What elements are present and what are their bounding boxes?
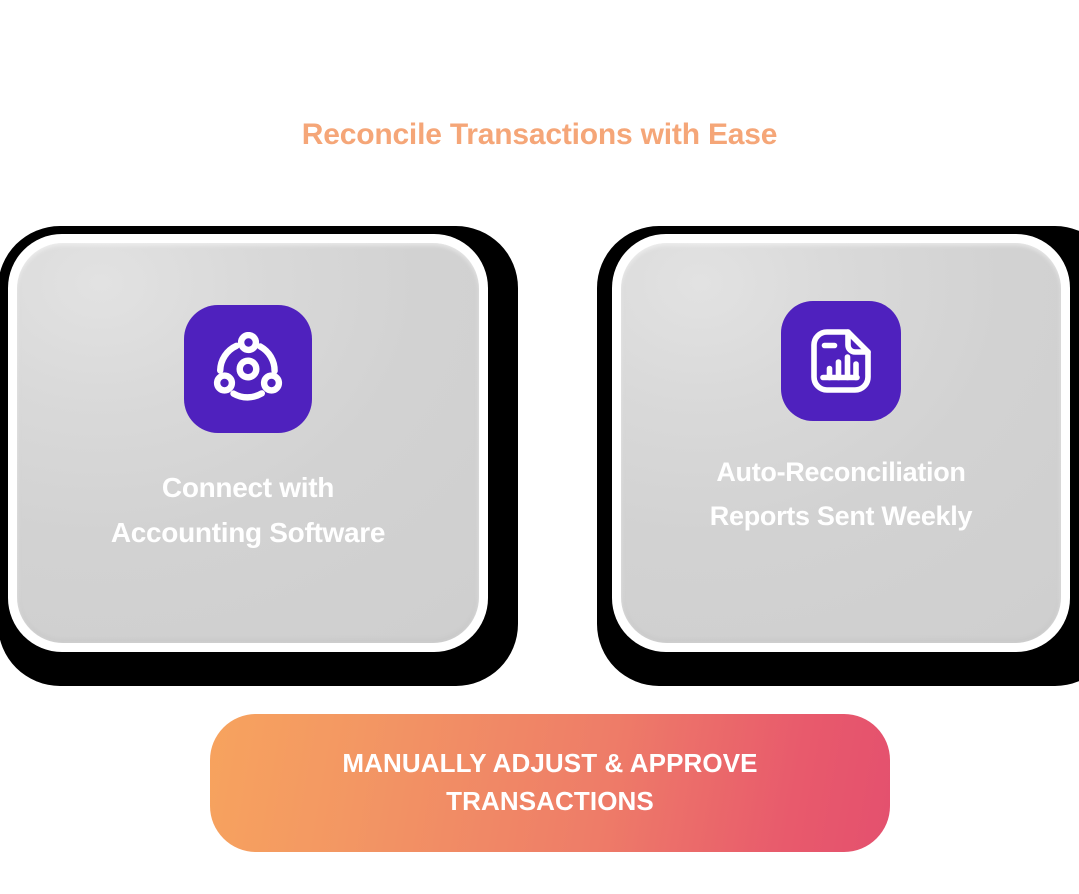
icon-tile	[781, 301, 901, 421]
feature-card-connect-accounting[interactable]: Connect with Accounting Software	[0, 226, 518, 686]
section-title: Reconcile Transactions with Ease	[0, 118, 1079, 152]
feature-section: Reconcile Transactions with Ease	[0, 0, 1079, 894]
card-outline: Connect with Accounting Software	[8, 234, 488, 652]
card-surface: Connect with Accounting Software	[17, 243, 479, 643]
card-surface: Auto-Reconciliation Reports Sent Weekly	[621, 243, 1061, 643]
report-chart-document-icon	[807, 327, 875, 395]
manually-adjust-approve-transactions-button[interactable]: MANUALLY ADJUST & APPROVE TRANSACTIONS	[210, 714, 890, 852]
cta-button-label: MANUALLY ADJUST & APPROVE TRANSACTIONS	[262, 745, 838, 820]
card-outline: Auto-Reconciliation Reports Sent Weekly	[612, 234, 1070, 652]
card-caption: Connect with Accounting Software	[35, 465, 460, 556]
network-share-icon	[211, 332, 285, 406]
feature-card-auto-reconciliation[interactable]: Auto-Reconciliation Reports Sent Weekly	[597, 226, 1079, 686]
card-caption: Auto-Reconciliation Reports Sent Weekly	[639, 451, 1044, 538]
icon-tile	[184, 305, 312, 433]
